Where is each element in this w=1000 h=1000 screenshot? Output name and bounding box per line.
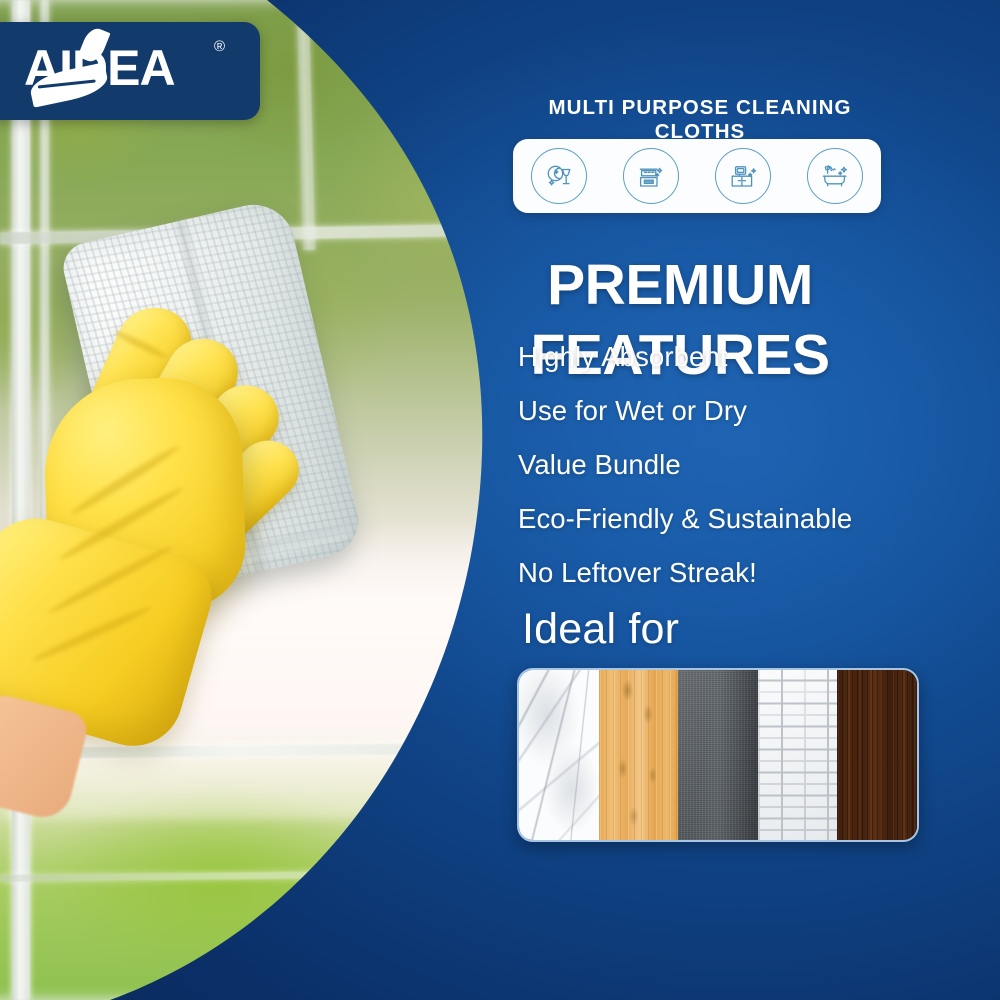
kitchen-counter-icon <box>623 148 679 204</box>
registered-trademark-icon: ® <box>214 38 225 55</box>
appliance-cabinet-icon <box>715 148 771 204</box>
kicker-text: MULTI PURPOSE CLEANING CLOTHS <box>500 96 900 144</box>
dishes-glassware-icon <box>531 148 587 204</box>
feature-item: Use for Wet or Dry <box>518 384 958 438</box>
swatch-white-subway-tile <box>758 670 838 840</box>
swatch-dark-walnut-wood <box>837 670 917 840</box>
feature-item: No Leftover Streak! <box>518 546 958 600</box>
swatch-stainless-steel <box>678 670 758 840</box>
surface-swatch-strip <box>517 668 919 842</box>
product-feature-poster: AIDEA ® MULTI PURPOSE CLEANING CLOTHS <box>0 0 1000 1000</box>
use-case-icon-bar <box>513 139 881 213</box>
ideal-for-title: Ideal for <box>522 605 679 654</box>
swatch-bamboo-wood <box>599 670 679 840</box>
feature-item: Value Bundle <box>518 438 958 492</box>
brand-logo-inner: AIDEA ® <box>24 36 254 106</box>
brand-logo: AIDEA ® <box>0 22 260 120</box>
feature-item: Highly Absorbent <box>518 330 958 384</box>
feature-item: Eco-Friendly & Sustainable <box>518 492 958 546</box>
feature-list: Highly Absorbent Use for Wet or Dry Valu… <box>518 330 958 600</box>
bathtub-shower-icon <box>807 148 863 204</box>
swatch-white-marble <box>519 670 599 840</box>
